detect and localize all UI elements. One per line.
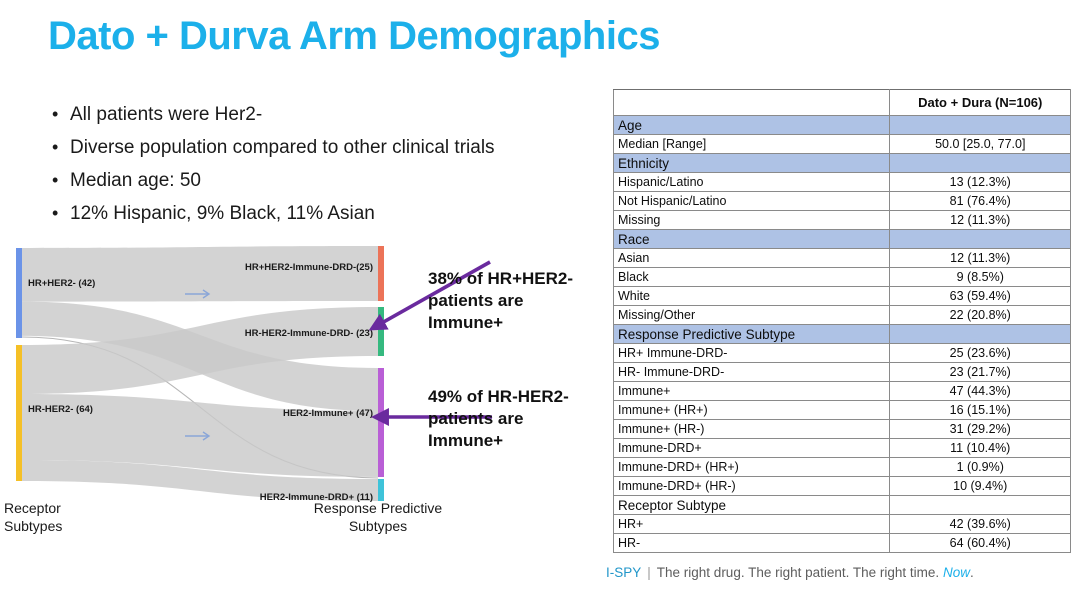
list-item: Diverse population compared to other cli…	[46, 131, 606, 164]
table-cell-value: 81 (76.4%)	[890, 192, 1071, 211]
slide-footer: I-SPY|The right drug. The right patient.…	[606, 565, 974, 580]
sankey-node-label: HR+HER2-Immune-DRD-(25)	[245, 262, 373, 273]
table-cell-label: Race	[614, 230, 890, 249]
table-cell-label: Immune-DRD+ (HR+)	[614, 458, 890, 477]
table-row: Missing/Other22 (20.8%)	[614, 306, 1071, 325]
sankey-left-axis-label: Receptor	[4, 500, 61, 516]
table-section-header-row: Ethnicity	[614, 154, 1071, 173]
table-cell-label: Immune+ (HR+)	[614, 401, 890, 420]
table-cell-value: 25 (23.6%)	[890, 344, 1071, 363]
table-cell-value	[890, 230, 1071, 249]
table-cell-label: Black	[614, 268, 890, 287]
demographics-table: Dato + Dura (N=106) AgeMedian [Range]50.…	[613, 89, 1071, 553]
table-row: Immune-DRD+ (HR+)1 (0.9%)	[614, 458, 1071, 477]
table-section-header-row: Response Predictive Subtype	[614, 325, 1071, 344]
table-section-header-row: Receptor Subtype	[614, 496, 1071, 515]
table-row: HR+42 (39.6%)	[614, 515, 1071, 534]
table-cell-label: HR+	[614, 515, 890, 534]
sankey-right-axis-label-line2: Subtypes	[349, 518, 407, 534]
list-item: 12% Hispanic, 9% Black, 11% Asian	[46, 197, 606, 230]
table-row: Missing12 (11.3%)	[614, 211, 1071, 230]
table-section-header-row: Age	[614, 116, 1071, 135]
table-cell-label: Missing	[614, 211, 890, 230]
table-cell-label: Age	[614, 116, 890, 135]
table-row: Median [Range]50.0 [25.0, 77.0]	[614, 135, 1071, 154]
table-cell-value: 64 (60.4%)	[890, 534, 1071, 553]
sankey-node-hr-neg-her2-neg[interactable]	[16, 345, 22, 481]
table-row: Asian12 (11.3%)	[614, 249, 1071, 268]
list-item: Median age: 50	[46, 164, 606, 197]
table-cell-label: HR- Immune-DRD-	[614, 363, 890, 382]
footer-emphasis: Now	[943, 565, 970, 580]
table-arm-header: Dato + Dura (N=106)	[890, 90, 1071, 116]
table-cell-label: Response Predictive Subtype	[614, 325, 890, 344]
table-cell-value	[890, 154, 1071, 173]
table-row: Immune+ (HR-)31 (29.2%)	[614, 420, 1071, 439]
table-cell-value: 12 (11.3%)	[890, 211, 1071, 230]
table-row: Immune+ (HR+)16 (15.1%)	[614, 401, 1071, 420]
table-body: AgeMedian [Range]50.0 [25.0, 77.0]Ethnic…	[614, 116, 1071, 553]
callout-hr-negative: 49% of HR-HER2- patients are Immune+	[428, 386, 596, 452]
table-cell-label: Ethnicity	[614, 154, 890, 173]
table-cell-label: Not Hispanic/Latino	[614, 192, 890, 211]
table-row: HR- Immune-DRD-23 (21.7%)	[614, 363, 1071, 382]
table-cell-label: Immune-DRD+	[614, 439, 890, 458]
sankey-node-label: HER2-Immune+ (47)	[283, 408, 373, 419]
sankey-node-her2-immune-pos[interactable]	[378, 368, 384, 477]
table-cell-label: Immune-DRD+ (HR-)	[614, 477, 890, 496]
table-row: Hispanic/Latino13 (12.3%)	[614, 173, 1071, 192]
table-cell-value: 10 (9.4%)	[890, 477, 1071, 496]
table-cell-value: 23 (21.7%)	[890, 363, 1071, 382]
table-cell-value: 31 (29.2%)	[890, 420, 1071, 439]
table-cell-value: 13 (12.3%)	[890, 173, 1071, 192]
table-corner-cell	[614, 90, 890, 116]
page-title: Dato + Durva Arm Demographics	[48, 14, 660, 59]
table-row: Immune+47 (44.3%)	[614, 382, 1071, 401]
table-row: HR-64 (60.4%)	[614, 534, 1071, 553]
table-cell-value: 22 (20.8%)	[890, 306, 1071, 325]
table-cell-label: HR+ Immune-DRD-	[614, 344, 890, 363]
sankey-node-label: HR-HER2-Immune-DRD- (23)	[245, 328, 373, 339]
table-section-header-row: Race	[614, 230, 1071, 249]
sankey-node-her2-immune-drd-pos[interactable]	[378, 479, 384, 501]
footer-brand: I-SPY	[606, 565, 641, 580]
sankey-link-hrpos-immunedrd	[22, 246, 378, 302]
table-row: Immune-DRD+11 (10.4%)	[614, 439, 1071, 458]
table-cell-value: 12 (11.3%)	[890, 249, 1071, 268]
table-cell-value: 9 (8.5%)	[890, 268, 1071, 287]
table-cell-label: Hispanic/Latino	[614, 173, 890, 192]
callout-hr-positive: 38% of HR+HER2- patients are Immune+	[428, 268, 596, 334]
table-cell-value	[890, 325, 1071, 344]
table-cell-label: HR-	[614, 534, 890, 553]
sankey-node-hrpos-immune-drd-neg[interactable]	[378, 246, 384, 301]
table-cell-label: White	[614, 287, 890, 306]
table-cell-value: 63 (59.4%)	[890, 287, 1071, 306]
table-row: Not Hispanic/Latino81 (76.4%)	[614, 192, 1071, 211]
sankey-node-hrneg-immune-drd-neg[interactable]	[378, 307, 384, 356]
table-cell-value	[890, 116, 1071, 135]
footer-tagline: The right drug. The right patient. The r…	[657, 565, 939, 580]
sankey-left-axis-label-line2: Subtypes	[4, 518, 62, 534]
sankey-node-label: HR+HER2- (42)	[28, 278, 95, 289]
table-cell-value: 42 (39.6%)	[890, 515, 1071, 534]
table-cell-value: 47 (44.3%)	[890, 382, 1071, 401]
table-cell-label: Receptor Subtype	[614, 496, 890, 515]
sankey-node-label: HR-HER2- (64)	[28, 404, 93, 415]
table-header-row: Dato + Dura (N=106)	[614, 90, 1071, 116]
footer-period: .	[970, 565, 974, 580]
footer-divider: |	[641, 565, 657, 580]
table-row: Black9 (8.5%)	[614, 268, 1071, 287]
summary-bullet-list: All patients were Her2- Diverse populati…	[46, 98, 606, 230]
table-row: Immune-DRD+ (HR-)10 (9.4%)	[614, 477, 1071, 496]
table-cell-value	[890, 496, 1071, 515]
list-item: All patients were Her2-	[46, 98, 606, 131]
table-cell-value: 50.0 [25.0, 77.0]	[890, 135, 1071, 154]
table-cell-label: Median [Range]	[614, 135, 890, 154]
table-cell-label: Asian	[614, 249, 890, 268]
table-cell-value: 1 (0.9%)	[890, 458, 1071, 477]
table-cell-label: Missing/Other	[614, 306, 890, 325]
table-row: HR+ Immune-DRD-25 (23.6%)	[614, 344, 1071, 363]
sankey-right-axis-label: Response Predictive	[314, 500, 443, 516]
table-cell-value: 16 (15.1%)	[890, 401, 1071, 420]
table-cell-label: Immune+	[614, 382, 890, 401]
table-row: White63 (59.4%)	[614, 287, 1071, 306]
table-cell-value: 11 (10.4%)	[890, 439, 1071, 458]
table-cell-label: Immune+ (HR-)	[614, 420, 890, 439]
sankey-node-hr-pos-her2-neg[interactable]	[16, 248, 22, 338]
